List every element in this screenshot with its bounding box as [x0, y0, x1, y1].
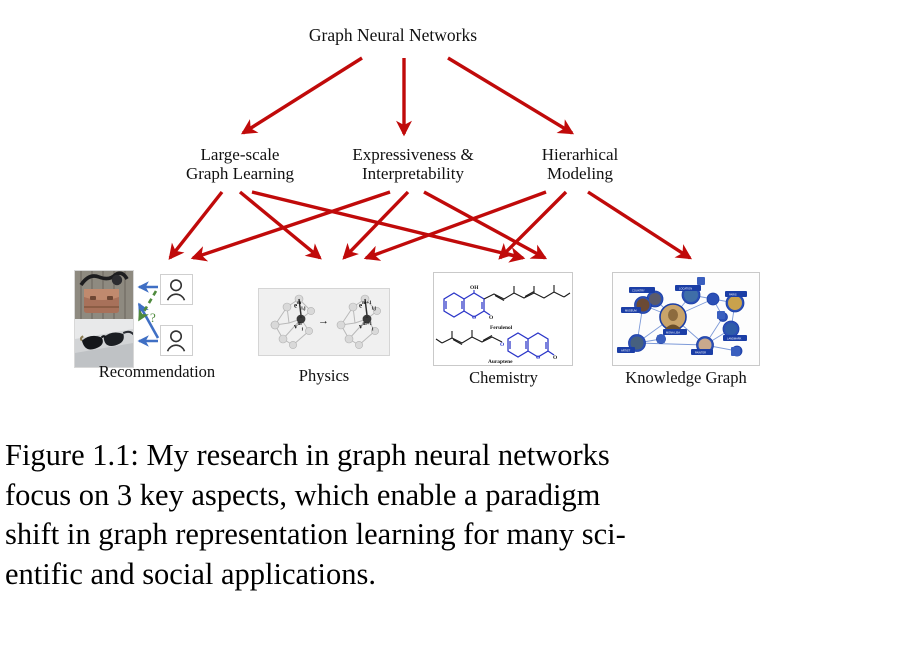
application-caption-chemistry: Chemistry — [421, 368, 586, 388]
physics-node-var-right: vm+1i — [359, 322, 373, 333]
caption-line: entific and social applications. — [5, 555, 902, 595]
arrow-hierarchical-to-physics — [366, 192, 546, 258]
molecule-structures: OH O O Ferulenol O — [434, 273, 572, 365]
aspect-node-expressiveness-interpretability: Expressiveness & Interpretability — [330, 145, 496, 183]
svg-text:O: O — [489, 315, 493, 321]
recommendation-edges: ? — [70, 268, 245, 368]
arrow-large-scale-to-chemistry — [252, 192, 523, 258]
svg-text:PARIS: PARIS — [729, 293, 737, 297]
svg-text:O: O — [500, 342, 504, 348]
application-caption-physics: Physics — [234, 366, 414, 386]
physics-transition-arrow-icon: → — [318, 315, 329, 327]
caption-line: Figure 1.1: My research in graph neural … — [5, 436, 902, 476]
aspect-node-large-scale-graph-learning: Large-scale Graph Learning — [160, 145, 320, 183]
application-caption-recommendation: Recommendation — [52, 362, 262, 382]
svg-text:O: O — [536, 355, 540, 361]
arrow-root-to-hierarchical — [448, 58, 572, 133]
svg-text:O: O — [553, 355, 557, 361]
arrow-expressiveness-to-recommendation — [193, 192, 390, 258]
arrow-expressiveness-to-physics — [344, 192, 408, 258]
svg-text:ARTIST: ARTIST — [621, 349, 631, 353]
application-panel-physics: emi,j vmi em+1i,j vm+1i → Physics — [258, 288, 390, 356]
svg-text:LANDMARK: LANDMARK — [727, 337, 742, 341]
figure-caption: Figure 1.1: My research in graph neural … — [5, 436, 902, 595]
chem-molecule-name-0: Ferulenol — [490, 325, 513, 331]
application-panel-knowledge-graph: MUSEUM MONA LISA ARTIST PAINTER LANDMARK… — [612, 272, 760, 366]
application-caption-knowledge-graph: Knowledge Graph — [596, 368, 776, 388]
knowledge-graph-network: MUSEUM MONA LISA ARTIST PAINTER LANDMARK… — [613, 273, 759, 365]
arrow-root-to-large-scale — [243, 58, 362, 133]
application-panel-recommendation: ? Recommendation — [70, 268, 245, 368]
svg-text:LOCATION: LOCATION — [679, 287, 692, 291]
physics-node-var-left: vmi — [294, 322, 303, 333]
figure-diagram: Graph Neural Networks Large-scale Graph … — [0, 0, 907, 420]
kg-center-node-label: MONA LISA — [666, 331, 680, 335]
application-panel-chemistry: OH O O Ferulenol O — [433, 272, 573, 366]
root-node-graph-neural-networks: Graph Neural Networks — [283, 26, 503, 46]
arrow-expressiveness-to-chemistry — [424, 192, 545, 258]
edge-label-question: ? — [150, 310, 156, 325]
arrow-large-scale-to-recommendation — [170, 192, 222, 258]
arrow-hierarchical-to-chemistry — [500, 192, 566, 258]
chemistry-frame: OH O O Ferulenol O — [433, 272, 573, 366]
arrow-hierarchical-to-knowledge-graph — [588, 192, 690, 258]
aspect-node-hierarchical-modeling: Hierarhical Modeling — [510, 145, 650, 183]
caption-line: shift in graph representation learning f… — [5, 515, 902, 555]
physics-edge-var-left: emi,j — [294, 301, 306, 312]
caption-line: focus on 3 key aspects, which enable a p… — [5, 476, 902, 516]
svg-text:MUSEUM: MUSEUM — [625, 309, 637, 313]
svg-text:COUNTRY: COUNTRY — [632, 289, 645, 293]
svg-text:O: O — [472, 315, 476, 321]
physics-edge-var-right: em+1i,j — [359, 301, 376, 312]
chem-molecule-name-1: Auraptene — [488, 359, 513, 365]
svg-text:PAINTER: PAINTER — [695, 351, 706, 355]
arrow-large-scale-to-physics — [240, 192, 320, 258]
chem-atom-label-oh: OH — [470, 285, 479, 291]
knowledge-graph-frame: MUSEUM MONA LISA ARTIST PAINTER LANDMARK… — [612, 272, 760, 366]
